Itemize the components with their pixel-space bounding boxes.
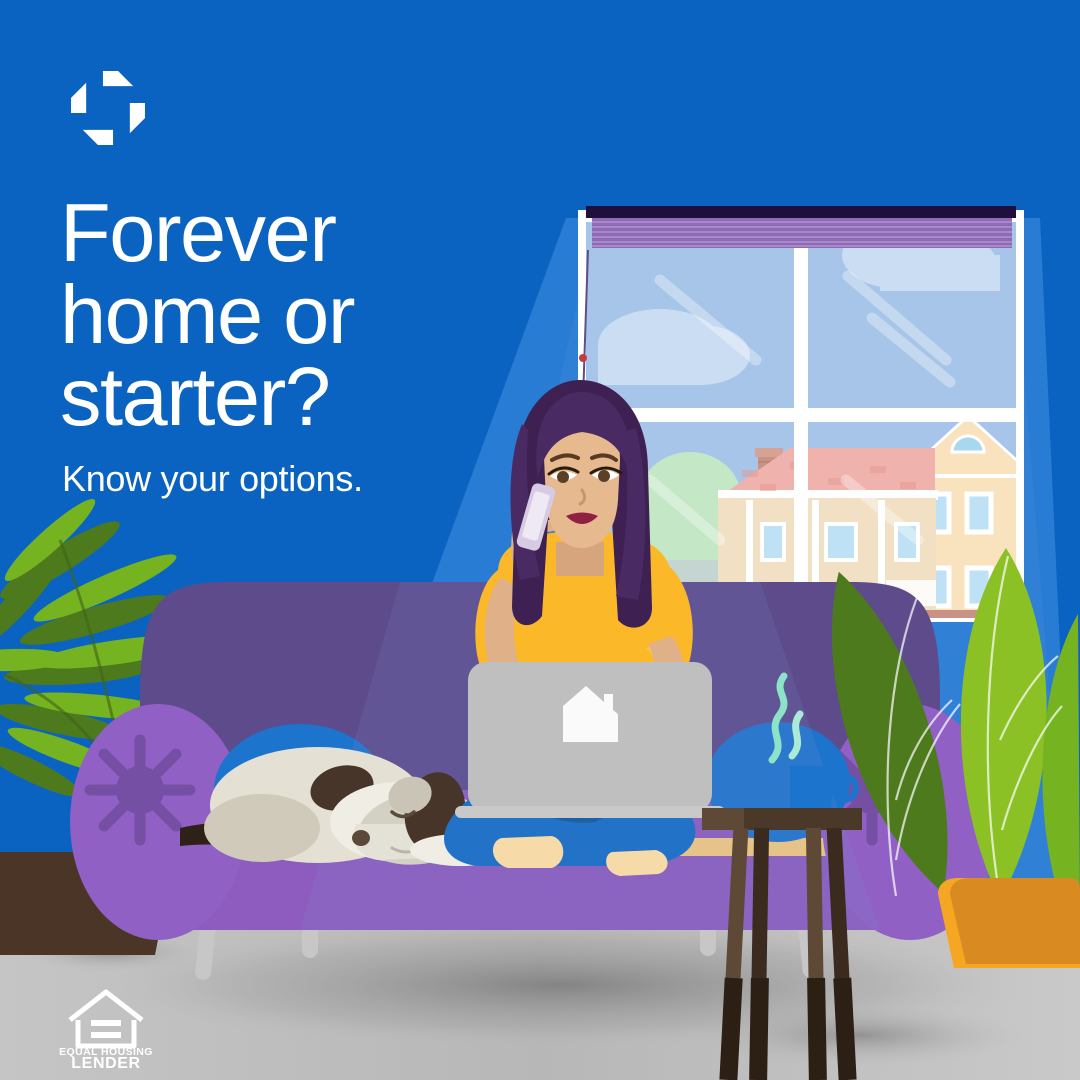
laptop <box>455 662 725 818</box>
woman-foot-left <box>493 836 563 868</box>
ehl-line2: LENDER <box>71 1055 140 1068</box>
couch-arm-button-left <box>90 740 190 840</box>
table-shadow <box>690 1003 1030 1067</box>
equal-housing-house-icon <box>70 992 142 1046</box>
woman-foot-right <box>606 850 667 876</box>
scene-illustration <box>0 0 1080 1080</box>
chase-octagon-logo <box>66 66 150 150</box>
page-title: Forever home or starter? <box>60 192 540 438</box>
subtitle: Know your options. <box>62 458 363 500</box>
equal-housing-lender-logo: EQUAL HOUSING LENDER <box>58 982 178 1068</box>
ad-canvas: Forever home or starter? Know your optio… <box>0 0 1080 1080</box>
